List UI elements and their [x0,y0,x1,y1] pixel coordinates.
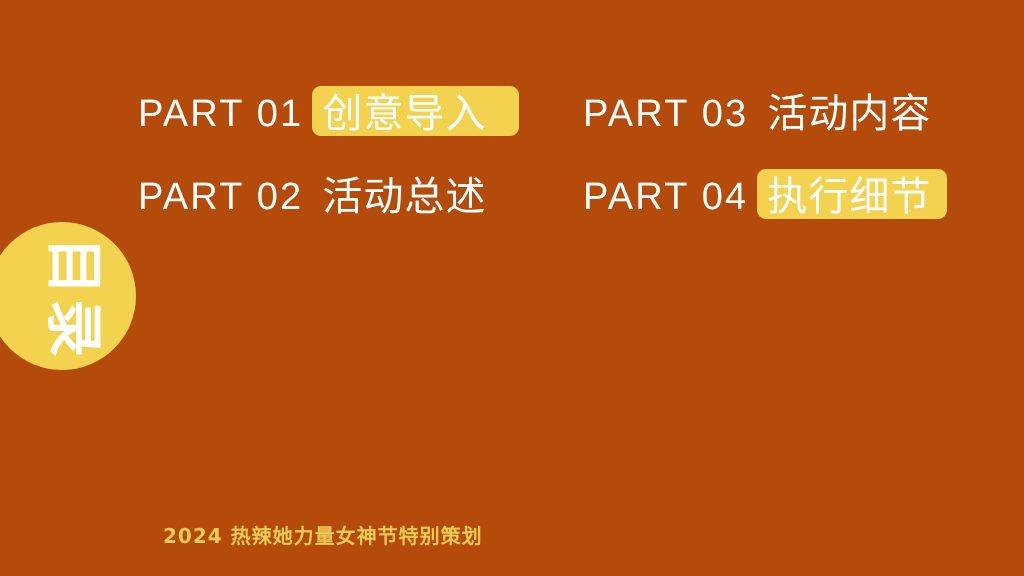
agenda-item-title-plain: 活动总述 [322,169,486,225]
slide-footer-text: 2024 热辣她力量女神节特别策划 [163,524,483,548]
agenda-item-title-plain: 活动内容 [767,86,931,142]
agenda-item-number: PART 03 [583,95,748,133]
agenda-item-number: PART 01 [138,95,303,133]
agenda-item-title: 活动总述 [322,177,486,217]
agenda-item-title-highlight: 创意导入 [322,86,486,142]
agenda-item-number: PART 04 [583,178,748,216]
agenda-list: PART 01 创意导入 PART 02 活动总述 PART 03 活动内容 P… [0,0,1024,260]
agenda-item-part-03[interactable]: PART 03 活动内容 [583,86,931,142]
slide-canvas: 目录 PART 01 创意导入 PART 02 活动总述 PART 03 活动内… [0,0,1024,576]
agenda-item-part-01[interactable]: PART 01 创意导入 [138,86,486,142]
agenda-item-title-highlight: 执行细节 [767,169,931,225]
agenda-item-title: 执行细节 [767,177,931,217]
agenda-item-title: 活动内容 [767,94,931,134]
agenda-item-title: 创意导入 [322,94,486,134]
agenda-item-part-04[interactable]: PART 04 执行细节 [583,169,931,225]
agenda-item-part-02[interactable]: PART 02 活动总述 [138,169,486,225]
agenda-item-number: PART 02 [138,178,303,216]
